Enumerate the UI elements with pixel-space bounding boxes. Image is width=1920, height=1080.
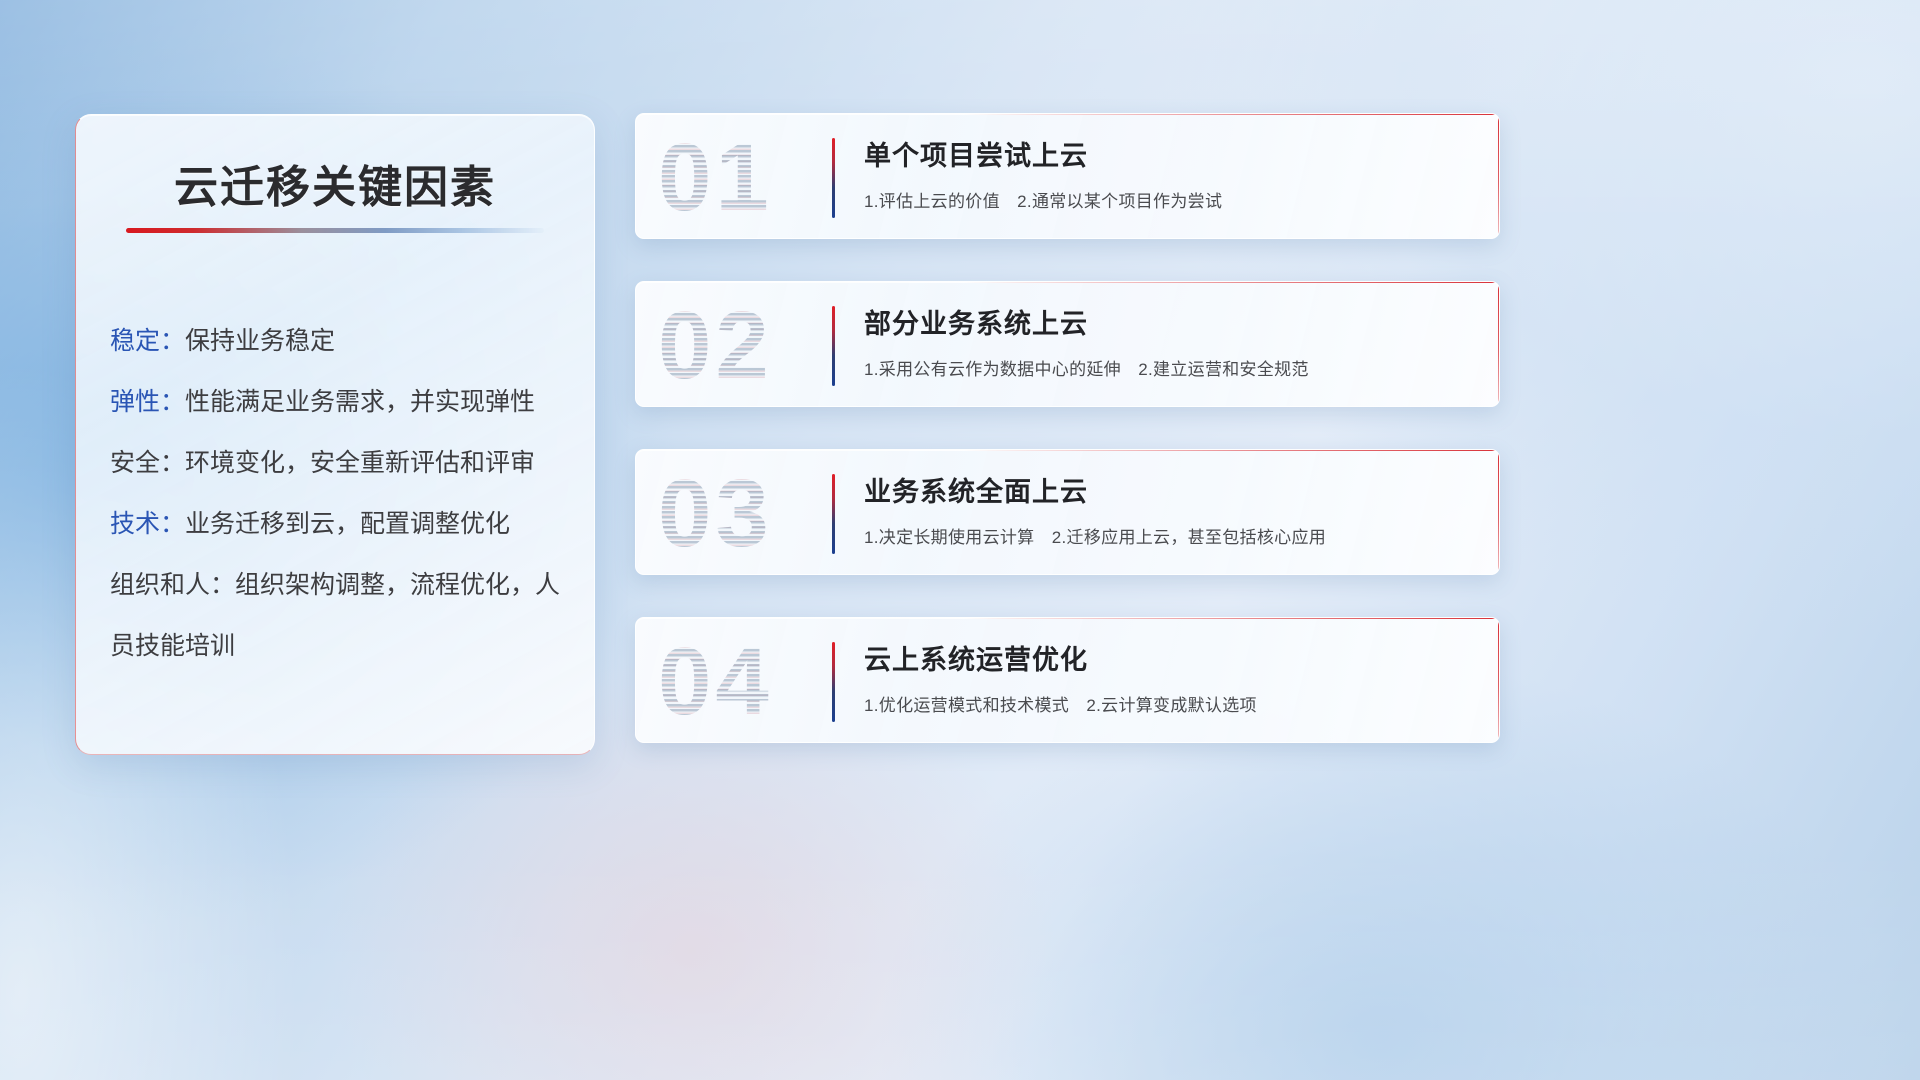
stage-description: 1.优化运营模式和技术模式 2.云计算变成默认选项 (864, 691, 1471, 716)
factor-item: 技术：业务迁移到云，配置调整优化 (110, 494, 570, 555)
factor-item: 稳定：保持业务稳定 (110, 311, 570, 372)
stage-divider-bar (832, 642, 835, 722)
stage-card-list: 0101单个项目尝试上云1.评估上云的价值 2.通常以某个项目作为尝试0202部… (635, 113, 1500, 785)
factor-value: 业务迁移到云，配置调整优化 (185, 510, 510, 538)
stage-number: 04 (658, 624, 838, 740)
factor-item: 弹性：性能满足业务需求，并实现弹性 (110, 372, 570, 433)
stage-body: 云上系统运营优化1.优化运营模式和技术模式 2.云计算变成默认选项 (864, 638, 1471, 716)
factor-value: 环境变化，安全重新评估和评审 (185, 449, 535, 477)
stage-description: 1.采用公有云作为数据中心的延伸 2.建立运营和安全规范 (864, 355, 1471, 380)
stage-card[interactable]: 0303业务系统全面上云1.决定长期使用云计算 2.迁移应用上云，甚至包括核心应… (635, 449, 1500, 575)
factor-label: 稳定： (110, 327, 185, 355)
factor-list: 稳定：保持业务稳定弹性：性能满足业务需求，并实现弹性安全：环境变化，安全重新评估… (110, 311, 570, 677)
stage-title: 业务系统全面上云 (864, 470, 1471, 509)
stage-number: 03 (658, 456, 838, 572)
factor-label: 安全： (110, 449, 185, 477)
stage-body: 业务系统全面上云1.决定长期使用云计算 2.迁移应用上云，甚至包括核心应用 (864, 470, 1471, 548)
key-factors-panel: 云迁移关键因素 稳定：保持业务稳定弹性：性能满足业务需求，并实现弹性安全：环境变… (75, 114, 595, 755)
stage-number: 02 (658, 288, 838, 404)
stage-card[interactable]: 0404云上系统运营优化1.优化运营模式和技术模式 2.云计算变成默认选项 (635, 617, 1500, 743)
factor-item: 组织和人：组织架构调整，流程优化，人员技能培训 (110, 555, 570, 677)
stage-number: 01 (658, 120, 838, 236)
stage-title: 单个项目尝试上云 (864, 134, 1471, 173)
stage-body: 单个项目尝试上云1.评估上云的价值 2.通常以某个项目作为尝试 (864, 134, 1471, 212)
stage-description: 1.评估上云的价值 2.通常以某个项目作为尝试 (864, 187, 1471, 212)
factor-label: 弹性： (110, 388, 185, 416)
stage-body: 部分业务系统上云1.采用公有云作为数据中心的延伸 2.建立运营和安全规范 (864, 302, 1471, 380)
page-title: 云迁移关键因素 (76, 151, 594, 215)
factor-label: 技术： (110, 510, 185, 538)
factor-value: 保持业务稳定 (185, 327, 335, 355)
stage-description: 1.决定长期使用云计算 2.迁移应用上云，甚至包括核心应用 (864, 523, 1471, 548)
factor-item: 安全：环境变化，安全重新评估和评审 (110, 433, 570, 494)
stage-divider-bar (832, 138, 835, 218)
stage-divider-bar (832, 474, 835, 554)
stage-divider-bar (832, 306, 835, 386)
factor-value: 性能满足业务需求，并实现弹性 (185, 388, 535, 416)
stage-title: 云上系统运营优化 (864, 638, 1471, 677)
stage-title: 部分业务系统上云 (864, 302, 1471, 341)
stage-card[interactable]: 0202部分业务系统上云1.采用公有云作为数据中心的延伸 2.建立运营和安全规范 (635, 281, 1500, 407)
title-underline-rule (126, 228, 544, 233)
factor-label: 组织和人： (110, 571, 235, 599)
stage-card[interactable]: 0101单个项目尝试上云1.评估上云的价值 2.通常以某个项目作为尝试 (635, 113, 1500, 239)
